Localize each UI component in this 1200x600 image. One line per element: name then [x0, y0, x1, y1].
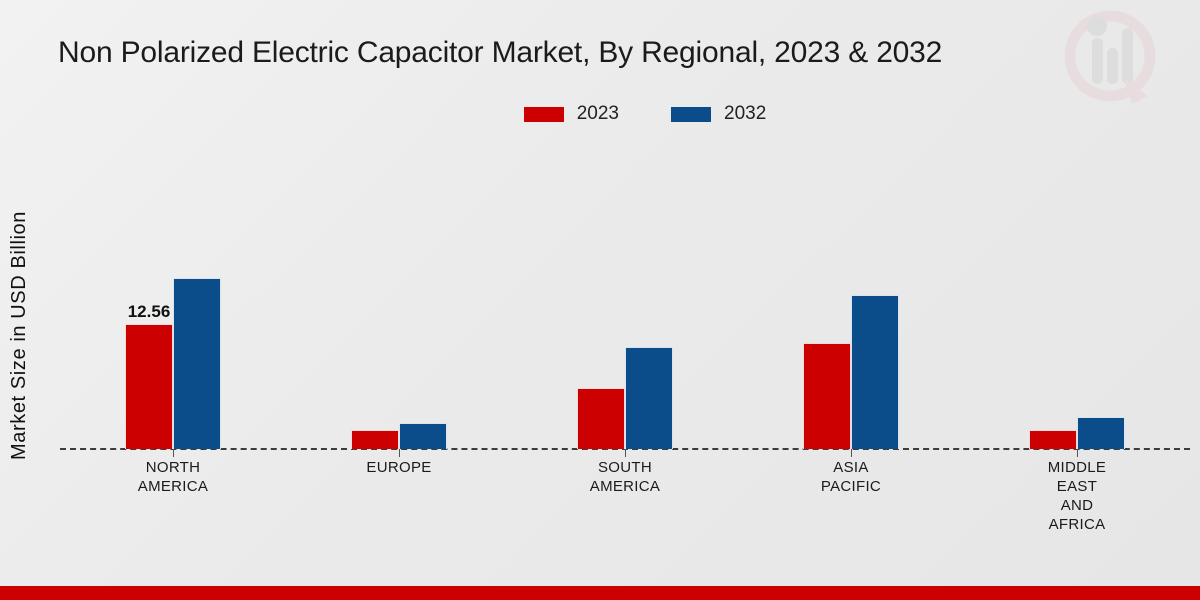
- x-label-line: ASIA: [738, 458, 964, 477]
- watermark-logo: [1062, 4, 1158, 112]
- bar-value-north-america-2023: 12.56: [128, 302, 171, 322]
- x-label-line: PACIFIC: [738, 477, 964, 496]
- x-label-line: SOUTH: [512, 458, 738, 477]
- bar-europe-2023[interactable]: [351, 430, 399, 449]
- bar-south-america-2032[interactable]: [625, 347, 673, 449]
- chart-legend: 2023 2032: [0, 103, 1200, 125]
- legend-swatch-2023: [524, 107, 564, 122]
- bottom-accent-band: [0, 586, 1200, 600]
- bar-south-america-2023[interactable]: [577, 388, 625, 449]
- x-label-line: NORTH: [60, 458, 286, 477]
- x-label-asia-pacific: ASIA PACIFIC: [738, 458, 964, 568]
- x-label-south-america: SOUTH AMERICA: [512, 458, 738, 568]
- x-axis-category-labels: NORTH AMERICA EUROPE SOUTH AMERICA ASIA …: [60, 458, 1190, 568]
- bar-middle-east-and-africa-2023[interactable]: [1029, 430, 1077, 449]
- bar-asia-pacific-2032[interactable]: [851, 295, 899, 449]
- x-label-line: EUROPE: [286, 458, 512, 477]
- bar-group-europe: [286, 150, 512, 449]
- bar-asia-pacific-2023[interactable]: [803, 343, 851, 449]
- legend-label-2023: 2023: [577, 103, 619, 125]
- bar-group-north-america: 12.56: [60, 150, 286, 449]
- x-label-north-america: NORTH AMERICA: [60, 458, 286, 568]
- x-label-line: EAST: [964, 477, 1190, 496]
- bar-europe-2032[interactable]: [399, 423, 447, 449]
- x-label-line: AMERICA: [60, 477, 286, 496]
- x-label-line: MIDDLE: [964, 458, 1190, 477]
- x-tick-europe: [399, 449, 400, 457]
- y-axis-title-text: Market Size in USD Billion: [8, 210, 31, 459]
- x-tick-middle-east-and-africa: [1077, 449, 1078, 457]
- legend-item-2032[interactable]: 2032: [671, 103, 766, 125]
- bar-group-south-america: [512, 150, 738, 449]
- legend-item-2023[interactable]: 2023: [524, 103, 619, 125]
- x-tick-south-america: [625, 449, 626, 457]
- chart-title: Non Polarized Electric Capacitor Market,…: [58, 36, 942, 70]
- bar-groups: 12.56: [60, 150, 1190, 449]
- bar-north-america-2023[interactable]: 12.56: [125, 324, 173, 449]
- bar-north-america-2032[interactable]: [173, 278, 221, 449]
- legend-swatch-2032: [671, 107, 711, 122]
- bar-group-middle-east-and-africa: [964, 150, 1190, 449]
- x-label-line: AFRICA: [964, 515, 1190, 534]
- x-label-line: AND: [964, 496, 1190, 515]
- x-label-europe: EUROPE: [286, 458, 512, 568]
- x-tick-asia-pacific: [851, 449, 852, 457]
- x-tick-north-america: [173, 449, 174, 457]
- bar-group-asia-pacific: [738, 150, 964, 449]
- y-axis-title: Market Size in USD Billion: [2, 170, 36, 500]
- x-label-middle-east-and-africa: MIDDLE EAST AND AFRICA: [964, 458, 1190, 568]
- bar-middle-east-and-africa-2032[interactable]: [1077, 417, 1125, 449]
- plot-area: 12.56: [60, 150, 1190, 450]
- legend-label-2032: 2032: [724, 103, 766, 125]
- x-label-line: AMERICA: [512, 477, 738, 496]
